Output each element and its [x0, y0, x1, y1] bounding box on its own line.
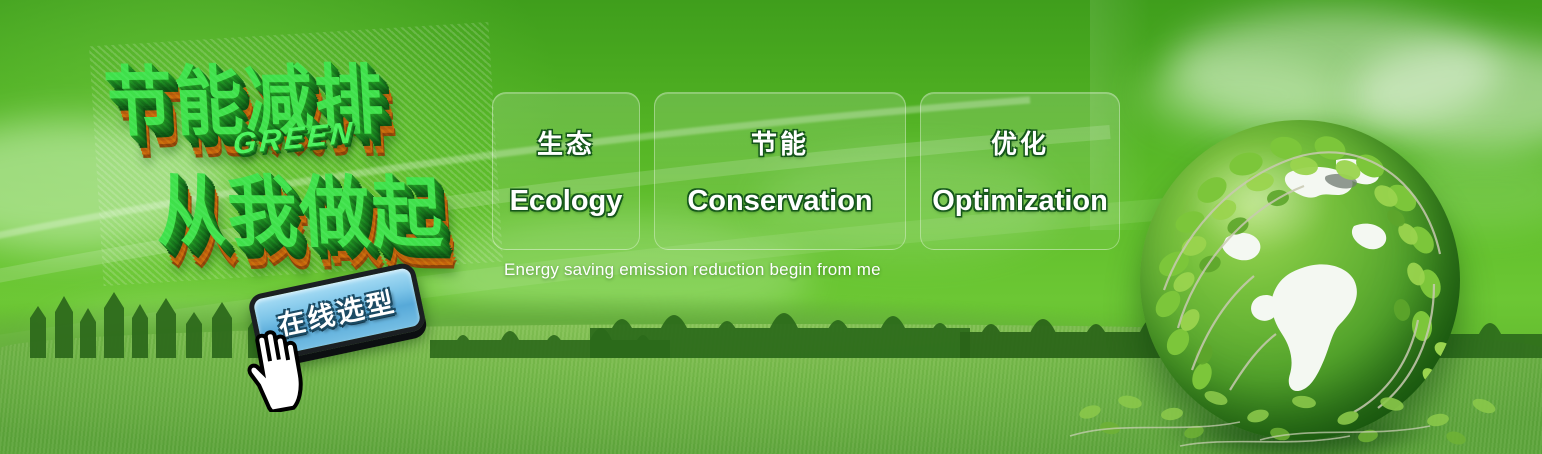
- feature-card-en-label: Optimization: [932, 185, 1108, 218]
- feature-card-en-label: Ecology: [510, 185, 623, 218]
- green-leafy-globe-icon: [1140, 120, 1460, 440]
- tagline: Energy saving emission reduction begin f…: [504, 260, 881, 280]
- hand-pointer-cursor-icon: [238, 320, 316, 412]
- feature-card-cn-label: 生态: [537, 124, 595, 161]
- feature-card-cn-label: 优化: [991, 124, 1049, 161]
- feature-card-optimization[interactable]: 优化 Optimization: [920, 92, 1120, 250]
- feature-card-cn-label: 节能: [751, 124, 809, 161]
- eco-banner: 节能减排 GREEN 从我做起 在线选型 生态 Ecology 节能 Conse…: [0, 0, 1542, 454]
- globe-sphere: [1140, 120, 1460, 440]
- headline-line-2: 从我做起: [151, 149, 447, 264]
- headline-3d: 节能减排 GREEN 从我做起: [89, 22, 503, 286]
- feature-card-conservation[interactable]: 节能 Conservation: [654, 92, 906, 250]
- feature-card-ecology[interactable]: 生态 Ecology: [492, 92, 640, 250]
- feature-card-list: 生态 Ecology 节能 Conservation 优化 Optimizati…: [492, 92, 1120, 250]
- feature-card-en-label: Conservation: [687, 185, 872, 218]
- clouds-icon: [1170, 10, 1500, 130]
